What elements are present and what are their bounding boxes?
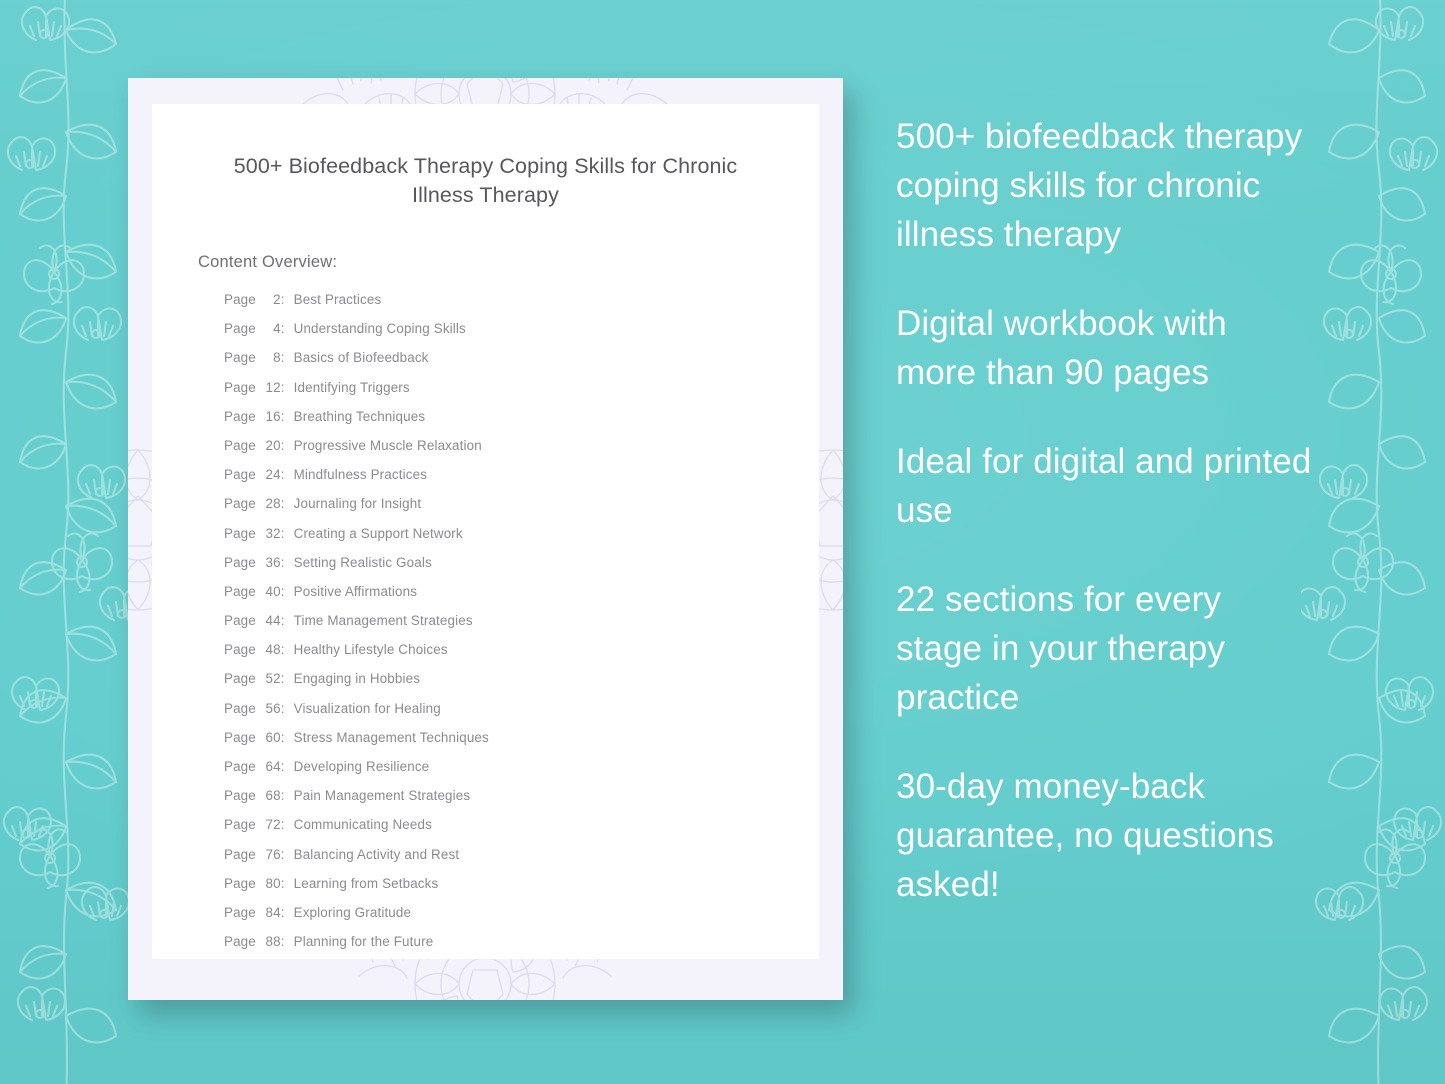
toc-separator: : xyxy=(281,730,285,745)
table-of-contents-row: Page 16:Breathing Techniques xyxy=(224,409,773,438)
toc-section-title: Breathing Techniques xyxy=(294,409,426,424)
toc-page-word: Page xyxy=(224,876,260,891)
toc-page-number: 72 xyxy=(260,817,281,832)
toc-separator: : xyxy=(281,876,285,891)
toc-separator: : xyxy=(281,526,285,541)
table-of-contents-row: Page 48:Healthy Lifestyle Choices xyxy=(224,642,773,671)
promo-line: 22 sections for every stage in your ther… xyxy=(896,575,1316,722)
table-of-contents-row: Page 36:Setting Realistic Goals xyxy=(224,555,773,584)
toc-page-word: Page xyxy=(224,847,260,862)
workbook-preview-card: 500+ Biofeedback Therapy Coping Skills f… xyxy=(128,78,843,1000)
table-of-contents-row: Page 12:Identifying Triggers xyxy=(224,380,773,409)
toc-page-number: 8 xyxy=(260,350,281,365)
toc-section-title: Engaging in Hobbies xyxy=(294,671,420,686)
toc-separator: : xyxy=(281,292,285,307)
toc-separator: : xyxy=(281,613,285,628)
toc-section-title: Healthy Lifestyle Choices xyxy=(294,642,448,657)
table-of-contents-row: Page 20:Progressive Muscle Relaxation xyxy=(224,438,773,467)
table-of-contents-row: Page 32:Creating a Support Network xyxy=(224,526,773,555)
toc-section-title: Best Practices xyxy=(294,292,382,307)
toc-page-word: Page xyxy=(224,350,260,365)
table-of-contents-row: Page 28:Journaling for Insight xyxy=(224,496,773,525)
toc-separator: : xyxy=(281,759,285,774)
table-of-contents-row: Page 80:Learning from Setbacks xyxy=(224,876,773,905)
toc-page-number: 36 xyxy=(260,555,281,570)
toc-page-word: Page xyxy=(224,555,260,570)
toc-page-number: 68 xyxy=(260,788,281,803)
product-listing-image: 500+ Biofeedback Therapy Coping Skills f… xyxy=(0,0,1445,1084)
table-of-contents-row: Page 68:Pain Management Strategies xyxy=(224,788,773,817)
toc-page-word: Page xyxy=(224,526,260,541)
toc-separator: : xyxy=(281,905,285,920)
toc-page-word: Page xyxy=(224,671,260,686)
toc-page-number: 76 xyxy=(260,847,281,862)
toc-section-title: Progressive Muscle Relaxation xyxy=(294,438,482,453)
table-of-contents-row: Page 8:Basics of Biofeedback xyxy=(224,350,773,379)
toc-page-word: Page xyxy=(224,817,260,832)
toc-separator: : xyxy=(281,584,285,599)
toc-page-word: Page xyxy=(224,730,260,745)
table-of-contents-row: Page 76:Balancing Activity and Rest xyxy=(224,847,773,876)
toc-section-title: Planning for the Future xyxy=(294,934,434,949)
toc-page-number: 64 xyxy=(260,759,281,774)
promo-line: 500+ biofeedback therapy coping skills f… xyxy=(896,112,1316,259)
content-overview-label: Content Overview: xyxy=(198,253,773,272)
table-of-contents-row: Page 40:Positive Affirmations xyxy=(224,584,773,613)
toc-page-number: 44 xyxy=(260,613,281,628)
toc-page-word: Page xyxy=(224,380,260,395)
toc-section-title: Identifying Triggers xyxy=(294,380,410,395)
toc-section-title: Exploring Gratitude xyxy=(294,905,411,920)
toc-separator: : xyxy=(281,788,285,803)
toc-page-number: 48 xyxy=(260,642,281,657)
toc-page-word: Page xyxy=(224,467,260,482)
table-of-contents-row: Page 56:Visualization for Healing xyxy=(224,701,773,730)
toc-page-word: Page xyxy=(224,905,260,920)
toc-separator: : xyxy=(281,847,285,862)
toc-page-word: Page xyxy=(224,788,260,803)
table-of-contents-row: Page 84:Exploring Gratitude xyxy=(224,905,773,934)
toc-section-title: Setting Realistic Goals xyxy=(294,555,432,570)
table-of-contents-row: Page 44:Time Management Strategies xyxy=(224,613,773,642)
floral-vine-icon xyxy=(1301,0,1445,1084)
toc-section-title: Mindfulness Practices xyxy=(294,467,427,482)
toc-separator: : xyxy=(281,817,285,832)
toc-page-word: Page xyxy=(224,292,260,307)
toc-page-number: 20 xyxy=(260,438,281,453)
table-of-contents-row: Page 2:Best Practices xyxy=(224,292,773,321)
toc-separator: : xyxy=(281,934,285,949)
toc-page-word: Page xyxy=(224,701,260,716)
toc-page-word: Page xyxy=(224,584,260,599)
toc-section-title: Journaling for Insight xyxy=(294,496,422,511)
toc-page-word: Page xyxy=(224,321,260,336)
toc-section-title: Balancing Activity and Rest xyxy=(294,847,460,862)
table-of-contents: Page 2:Best PracticesPage 4:Understandin… xyxy=(198,292,773,959)
promo-line: 30-day money-back guarantee, no question… xyxy=(896,762,1316,909)
toc-page-number: 32 xyxy=(260,526,281,541)
toc-page-number: 16 xyxy=(260,409,281,424)
toc-separator: : xyxy=(281,380,285,395)
toc-section-title: Learning from Setbacks xyxy=(294,876,439,891)
toc-page-number: 56 xyxy=(260,701,281,716)
toc-page-number: 24 xyxy=(260,467,281,482)
promo-copy: 500+ biofeedback therapy coping skills f… xyxy=(896,112,1316,909)
toc-page-number: 60 xyxy=(260,730,281,745)
toc-separator: : xyxy=(281,350,285,365)
toc-page-number: 12 xyxy=(260,380,281,395)
toc-separator: : xyxy=(281,438,285,453)
toc-page-number: 52 xyxy=(260,671,281,686)
toc-page-word: Page xyxy=(224,496,260,511)
toc-separator: : xyxy=(281,701,285,716)
floral-vine-icon xyxy=(0,0,144,1084)
toc-separator: : xyxy=(281,555,285,570)
table-of-contents-row: Page 72:Communicating Needs xyxy=(224,817,773,846)
toc-page-word: Page xyxy=(224,409,260,424)
toc-section-title: Communicating Needs xyxy=(294,817,432,832)
toc-separator: : xyxy=(281,467,285,482)
toc-page-word: Page xyxy=(224,759,260,774)
toc-page-word: Page xyxy=(224,934,260,949)
promo-line: Ideal for digital and printed use xyxy=(896,437,1316,535)
toc-page-word: Page xyxy=(224,642,260,657)
toc-separator: : xyxy=(281,321,285,336)
workbook-page: 500+ Biofeedback Therapy Coping Skills f… xyxy=(152,104,819,959)
toc-section-title: Positive Affirmations xyxy=(294,584,417,599)
toc-section-title: Understanding Coping Skills xyxy=(294,321,466,336)
toc-page-number: 88 xyxy=(260,934,281,949)
toc-section-title: Stress Management Techniques xyxy=(294,730,489,745)
toc-section-title: Basics of Biofeedback xyxy=(294,350,429,365)
toc-page-number: 2 xyxy=(260,292,281,307)
toc-page-word: Page xyxy=(224,438,260,453)
toc-page-number: 80 xyxy=(260,876,281,891)
table-of-contents-row: Page 60:Stress Management Techniques xyxy=(224,730,773,759)
toc-section-title: Pain Management Strategies xyxy=(294,788,471,803)
toc-separator: : xyxy=(281,496,285,511)
page-title: 500+ Biofeedback Therapy Coping Skills f… xyxy=(212,152,759,210)
toc-page-number: 84 xyxy=(260,905,281,920)
toc-section-title: Time Management Strategies xyxy=(294,613,473,628)
table-of-contents-row: Page 88:Planning for the Future xyxy=(224,934,773,959)
toc-section-title: Developing Resilience xyxy=(294,759,430,774)
toc-page-number: 4 xyxy=(260,321,281,336)
toc-separator: : xyxy=(281,642,285,657)
toc-page-number: 40 xyxy=(260,584,281,599)
table-of-contents-row: Page 4:Understanding Coping Skills xyxy=(224,321,773,350)
toc-page-number: 28 xyxy=(260,496,281,511)
toc-section-title: Visualization for Healing xyxy=(294,701,441,716)
table-of-contents-row: Page 64:Developing Resilience xyxy=(224,759,773,788)
table-of-contents-row: Page 52:Engaging in Hobbies xyxy=(224,671,773,700)
toc-separator: : xyxy=(281,671,285,686)
toc-section-title: Creating a Support Network xyxy=(294,526,463,541)
toc-separator: : xyxy=(281,409,285,424)
table-of-contents-row: Page 24:Mindfulness Practices xyxy=(224,467,773,496)
toc-page-word: Page xyxy=(224,613,260,628)
promo-line: Digital workbook with more than 90 pages xyxy=(896,299,1316,397)
